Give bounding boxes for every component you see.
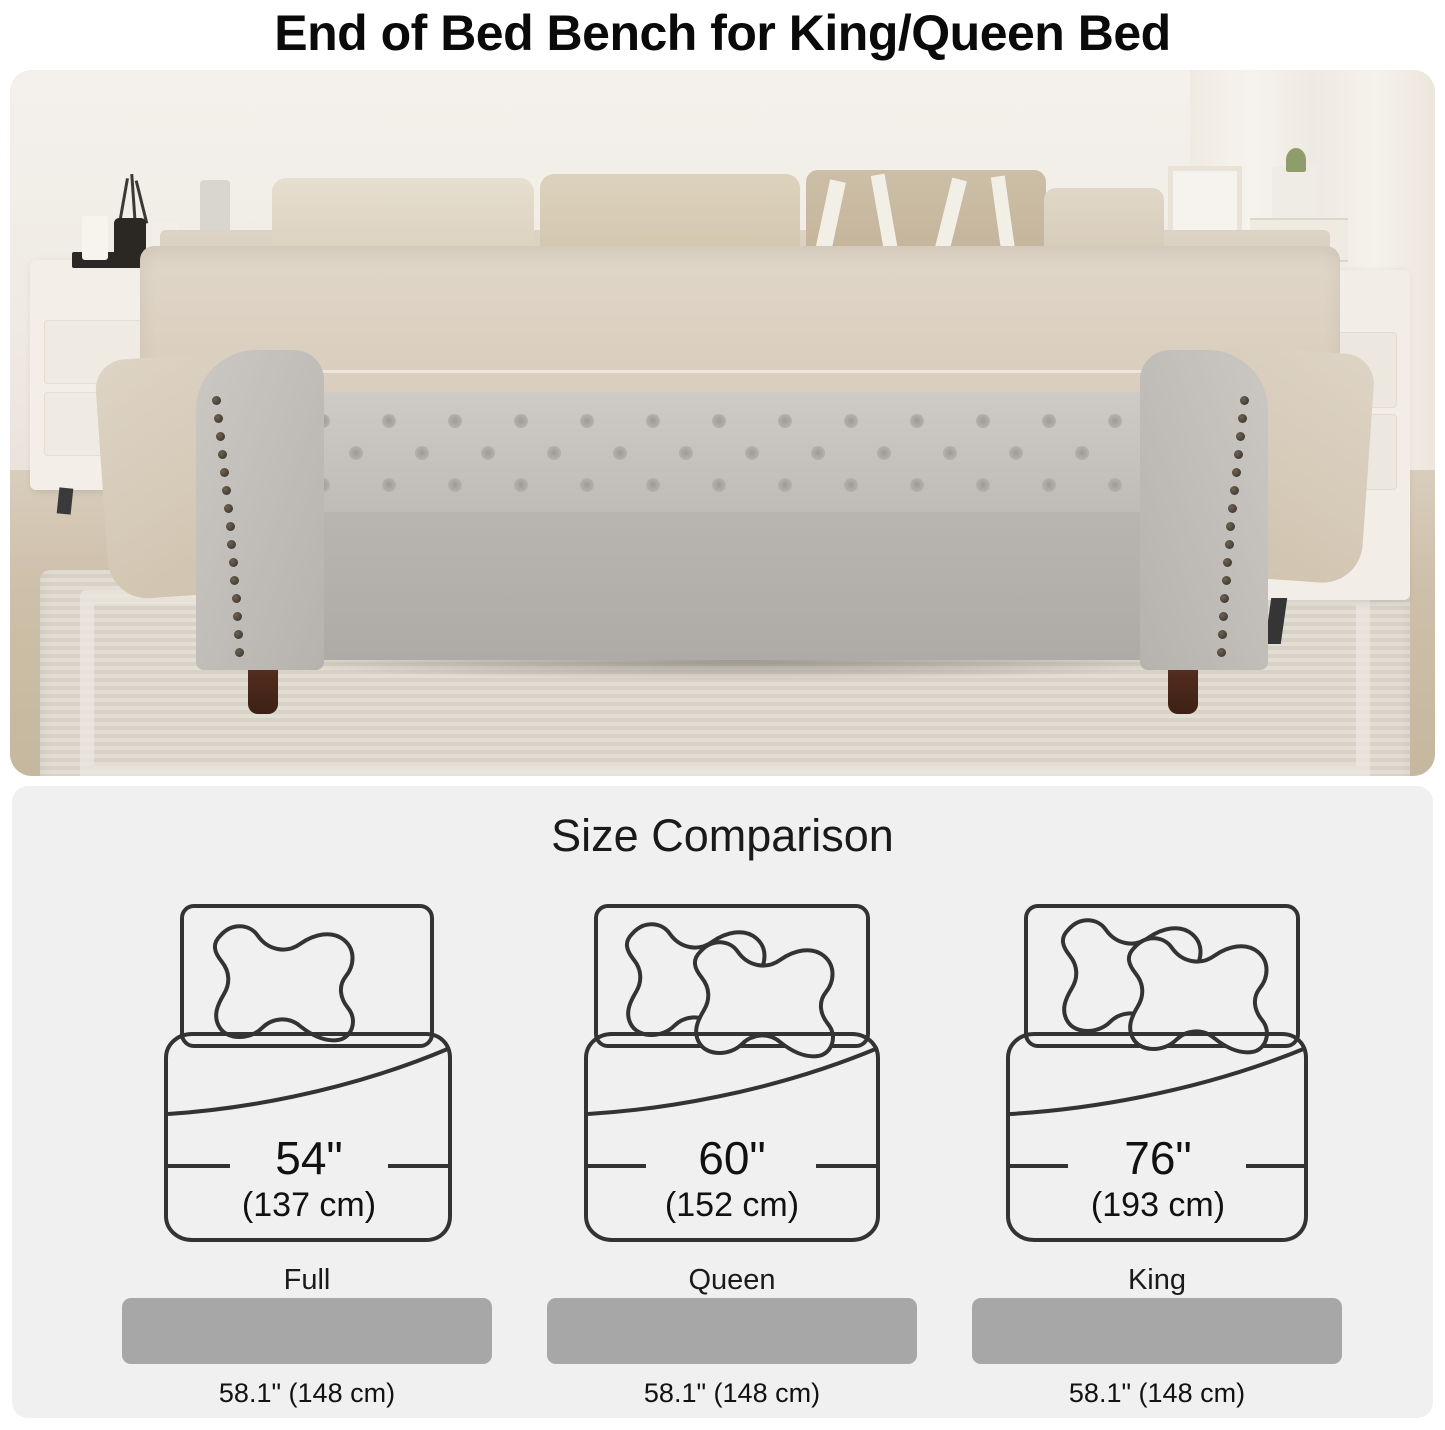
nailhead-trim-stud [1234, 450, 1243, 459]
nailhead-trim-stud [1232, 468, 1241, 477]
tufting-button [382, 478, 396, 492]
nailhead-trim-stud [230, 576, 239, 585]
tufting-button [580, 478, 594, 492]
bed-size-label-full: Full [122, 1264, 492, 1297]
nailhead-trim-stud [235, 648, 244, 657]
nailhead-trim-stud [1218, 630, 1227, 639]
bench-width-bar [972, 1298, 1342, 1364]
nightstand-left-leg [57, 487, 74, 514]
tufting-button [976, 478, 990, 492]
tufting-button [745, 446, 759, 460]
bed-width-cm: (137 cm) [242, 1186, 376, 1224]
nailhead-trim-stud [226, 522, 235, 531]
bench-bar-group-full: 58.1" (148 cm) [122, 1298, 492, 1409]
plant-pot [1272, 166, 1318, 218]
nailhead-trim-stud [1219, 612, 1228, 621]
size-comparison-panel: Size Comparison 54" (137 cm) Full [12, 786, 1433, 1418]
bench-width-bars-row: 58.1" (148 cm) 58.1" (148 cm) 58.1" (148… [12, 1298, 1433, 1418]
bench-bar-group-king: 58.1" (148 cm) [972, 1298, 1342, 1409]
bed-size-label-queen: Queen [547, 1264, 917, 1297]
tufting-button [1009, 446, 1023, 460]
nailhead-trim-stud [220, 468, 229, 477]
bed-diagram-full: 54" (137 cm) Full [122, 898, 492, 1297]
nailhead-trim-stud [1228, 504, 1237, 513]
bed-width-inches: 76" [1124, 1132, 1192, 1184]
bed-diagrams-row: 54" (137 cm) Full 60" (152 cm) [12, 898, 1433, 1278]
nailhead-trim-stud [227, 540, 236, 549]
tufting-button [415, 446, 429, 460]
tufting-button [646, 414, 660, 428]
nailhead-trim-stud [1236, 432, 1245, 441]
tufting-button [811, 446, 825, 460]
tufting-button [910, 414, 924, 428]
nailhead-trim-stud [1238, 414, 1247, 423]
tufting-button [712, 414, 726, 428]
tufting-button [1042, 414, 1056, 428]
bed-diagram-queen: 60" (152 cm) Queen [547, 898, 917, 1297]
tufting-button [580, 414, 594, 428]
bed-outline-king-svg: 76" (193 cm) [1002, 898, 1312, 1258]
bed-width-inches: 60" [698, 1132, 766, 1184]
tufting-button [1108, 414, 1122, 428]
nailhead-trim-stud [216, 432, 225, 441]
tufting-button [910, 478, 924, 492]
lifestyle-photo [10, 70, 1435, 776]
bed-size-label-king: King [972, 1264, 1342, 1297]
tufting-button [349, 446, 363, 460]
bed-width-cm: (152 cm) [665, 1186, 799, 1224]
candle [82, 216, 108, 260]
bench-rolled-arm-right [1140, 350, 1268, 670]
bed-width-inches: 54" [275, 1132, 343, 1184]
size-comparison-title: Size Comparison [12, 810, 1433, 862]
tufting-button [646, 478, 660, 492]
tufting-button [448, 414, 462, 428]
tufting-button [1075, 446, 1089, 460]
nailhead-trim-stud [224, 504, 233, 513]
nailhead-trim-stud [1226, 522, 1235, 531]
tufting-button [844, 478, 858, 492]
nailhead-trim-stud [214, 414, 223, 423]
bench-rolled-arm-left [196, 350, 324, 670]
nailhead-trim-stud [1240, 396, 1249, 405]
nailhead-trim-stud [212, 396, 221, 405]
tufting-button [382, 414, 396, 428]
tufting-button [1108, 478, 1122, 492]
nailhead-trim-stud [234, 630, 243, 639]
nailhead-trim-stud [222, 486, 231, 495]
nailhead-trim-stud [232, 594, 241, 603]
page-title: End of Bed Bench for King/Queen Bed [0, 2, 1445, 64]
nailhead-trim-stud [1230, 486, 1239, 495]
nailhead-trim-stud [1223, 558, 1232, 567]
nailhead-trim-stud [1225, 540, 1234, 549]
bench-width-bar [122, 1298, 492, 1364]
tufting-button [712, 478, 726, 492]
bed-outline-queen-svg: 60" (152 cm) [582, 898, 882, 1258]
product-infographic: End of Bed Bench for King/Queen Bed [0, 0, 1445, 1430]
tufting-button [778, 478, 792, 492]
tufting-button [877, 446, 891, 460]
tufting-button [514, 478, 528, 492]
nailhead-trim-stud [218, 450, 227, 459]
nailhead-trim-stud [1222, 576, 1231, 585]
bed-outline-full-svg: 54" (137 cm) [162, 898, 452, 1258]
tufting-button [1042, 478, 1056, 492]
tufting-button [844, 414, 858, 428]
nailhead-trim-stud [229, 558, 238, 567]
tufting-button [448, 478, 462, 492]
nailhead-trim-stud [1220, 594, 1229, 603]
tufting-button [679, 446, 693, 460]
bench-width-label: 58.1" (148 cm) [972, 1378, 1342, 1409]
tufting-button [943, 446, 957, 460]
nailhead-trim-stud [1217, 648, 1226, 657]
nailhead-trim-stud [233, 612, 242, 621]
bench-bar-group-queen: 58.1" (148 cm) [547, 1298, 917, 1409]
tufting-button [481, 446, 495, 460]
tufting-button [778, 414, 792, 428]
bed-width-cm: (193 cm) [1091, 1186, 1225, 1224]
bench-width-label: 58.1" (148 cm) [547, 1378, 917, 1409]
bench-tufted-seat [288, 392, 1183, 512]
plant [1286, 148, 1306, 172]
tufting-button [547, 446, 561, 460]
bench-width-bar [547, 1298, 917, 1364]
tufting-button [613, 446, 627, 460]
bed-diagram-king: 76" (193 cm) King [972, 898, 1342, 1297]
bench-width-label: 58.1" (148 cm) [122, 1378, 492, 1409]
tufting-button [514, 414, 528, 428]
tufting-button [976, 414, 990, 428]
